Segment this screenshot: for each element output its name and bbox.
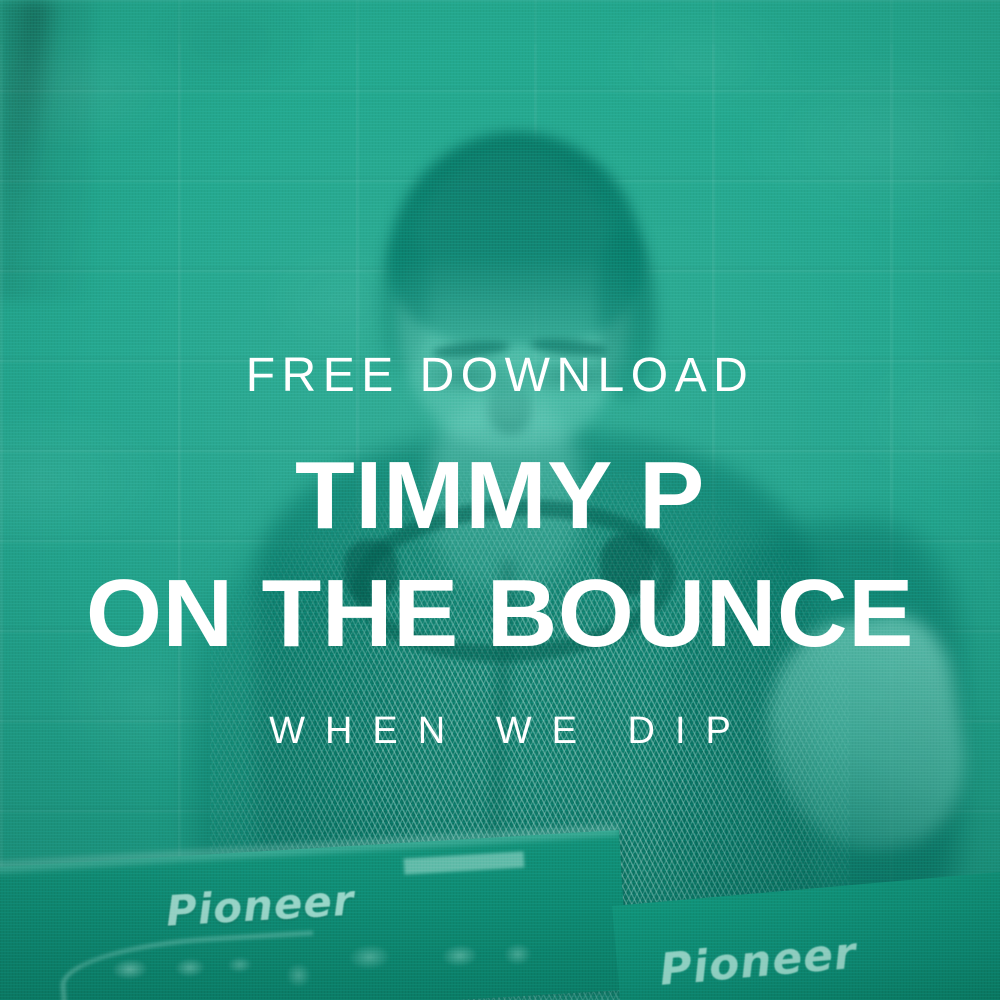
cover-artwork: Pioneer Pioneer FREE DOWNLOAD TIMMY P ON… <box>0 0 1000 1000</box>
cover-text-block: FREE DOWNLOAD TIMMY P ON THE BOUNCE WHEN… <box>0 0 1000 1000</box>
track-title: ON THE BOUNCE <box>86 566 914 662</box>
label-name: WHEN WE DIP <box>249 712 751 750</box>
free-download-label: FREE DOWNLOAD <box>246 352 755 400</box>
artist-name: TIMMY P <box>295 448 705 544</box>
